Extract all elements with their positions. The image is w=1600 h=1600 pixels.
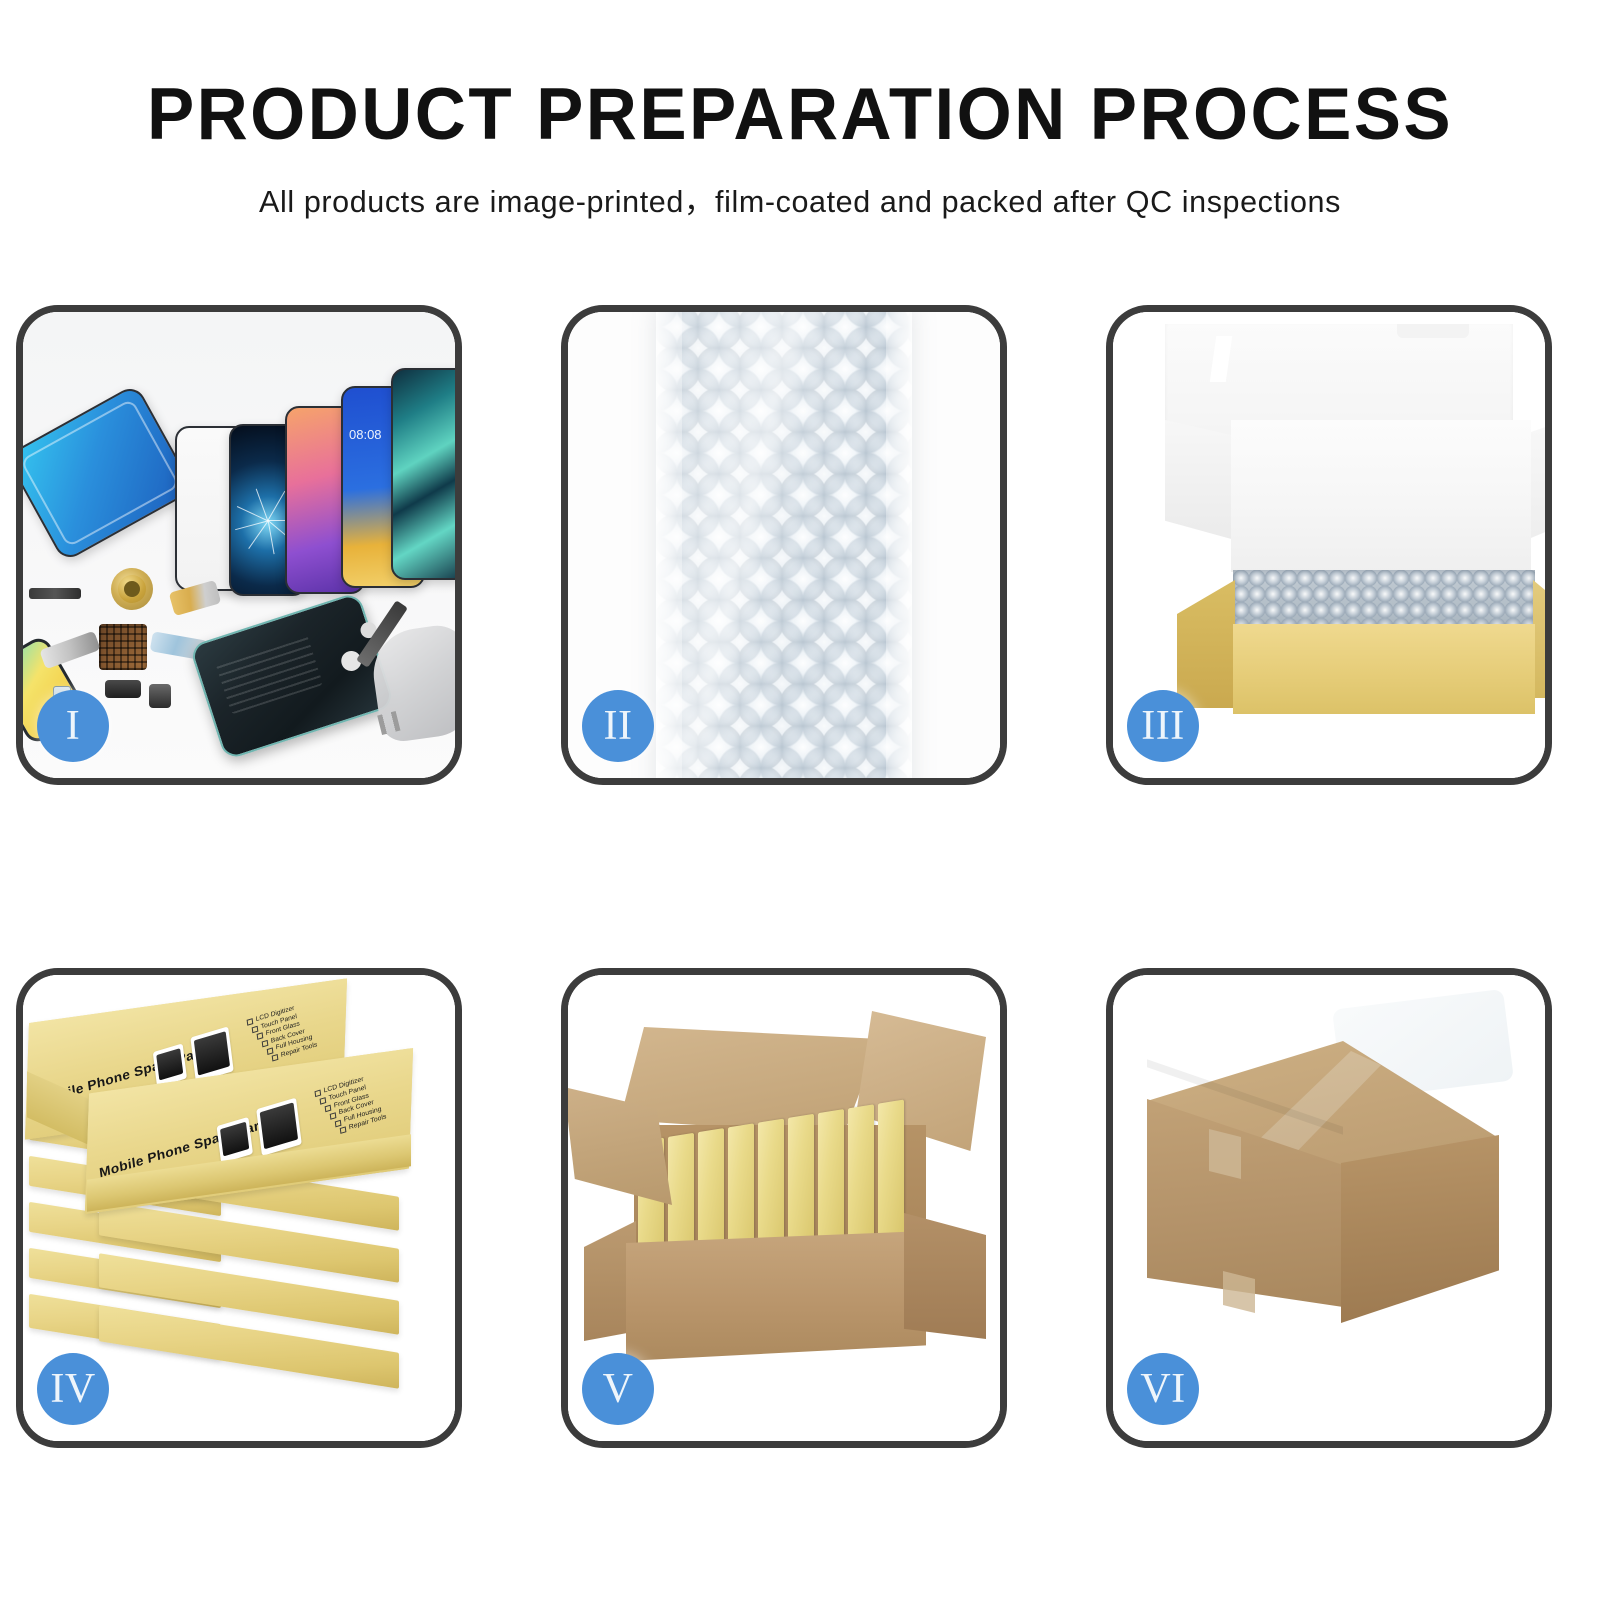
camera-module-icon — [149, 684, 171, 708]
blue-lcd-frame-icon — [23, 383, 195, 562]
box-lid-tab — [1397, 324, 1469, 338]
page-subtitle: All products are image-printed，film-coat… — [0, 177, 1600, 221]
header: PRODUCT PREPARATION PROCESS All products… — [0, 0, 1600, 221]
process-step-4: Mobile Phone Spare Parts LCD Digitizer T… — [16, 968, 462, 1448]
process-step-6: VI — [1106, 968, 1552, 1448]
box-lid-left-flap — [1165, 420, 1235, 540]
box-lid-notch — [1210, 336, 1232, 382]
step-badge-2: II — [582, 690, 654, 762]
speaker-strip-icon — [29, 588, 81, 599]
page-title: PRODUCT PREPARATION PROCESS — [24, 78, 1576, 151]
speaker-module-icon — [105, 680, 141, 698]
wireless-coil-icon — [111, 568, 153, 610]
step-badge-4: IV — [37, 1353, 109, 1425]
phone-housing-board-icon — [189, 591, 395, 760]
process-step-5: V — [561, 968, 1007, 1448]
box-inner-liner — [1231, 420, 1531, 572]
ic-chip-icon — [99, 624, 147, 670]
plastic-sheen — [656, 312, 912, 778]
wrap-edge-right — [886, 312, 912, 778]
process-step-2: II — [561, 305, 1007, 785]
step-badge-6: VI — [1127, 1353, 1199, 1425]
box-body-left — [1177, 580, 1235, 708]
process-step-3: III — [1106, 305, 1552, 785]
step-badge-5: V — [582, 1353, 654, 1425]
flex-cable-3-icon — [39, 631, 100, 670]
packing-tape-bottom-icon — [1223, 1271, 1255, 1313]
phone-clock-label: 08:08 — [349, 428, 382, 442]
packing-tape-front-icon — [1209, 1129, 1241, 1179]
box-lid-right-flap — [1531, 418, 1545, 538]
process-step-grid: 08:08 — [16, 305, 1584, 1450]
infographic-page: PRODUCT PREPARATION PROCESS All products… — [0, 0, 1600, 1600]
bubble-wrapped-product-icon — [1233, 570, 1535, 628]
carton-front-face — [626, 1231, 926, 1361]
flex-cable-1-icon — [169, 580, 222, 616]
wrap-edge-left — [656, 312, 682, 778]
step-badge-3: III — [1127, 690, 1199, 762]
sealed-carton-right — [1341, 1135, 1499, 1323]
process-step-1: 08:08 — [16, 305, 462, 785]
carton-side-face — [904, 1213, 986, 1339]
box-body-front — [1233, 624, 1535, 714]
phone-lineup: 08:08 — [23, 338, 455, 588]
teal-phone-icon — [391, 368, 455, 580]
step-badge-1: I — [37, 690, 109, 762]
bubble-wrap-sheet-icon — [656, 312, 912, 778]
